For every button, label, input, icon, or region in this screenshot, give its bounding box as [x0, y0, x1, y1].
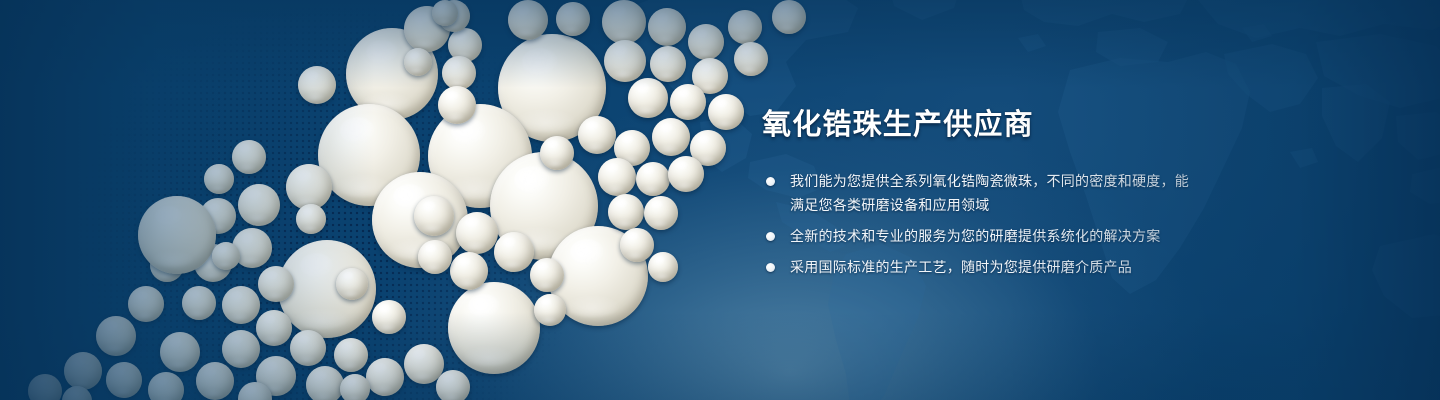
background-vignette — [0, 0, 1440, 400]
hero-banner: 氧化锆珠生产供应商 我们能为您提供全系列氧化锆陶瓷微珠，不同的密度和硬度，能满足… — [0, 0, 1440, 400]
